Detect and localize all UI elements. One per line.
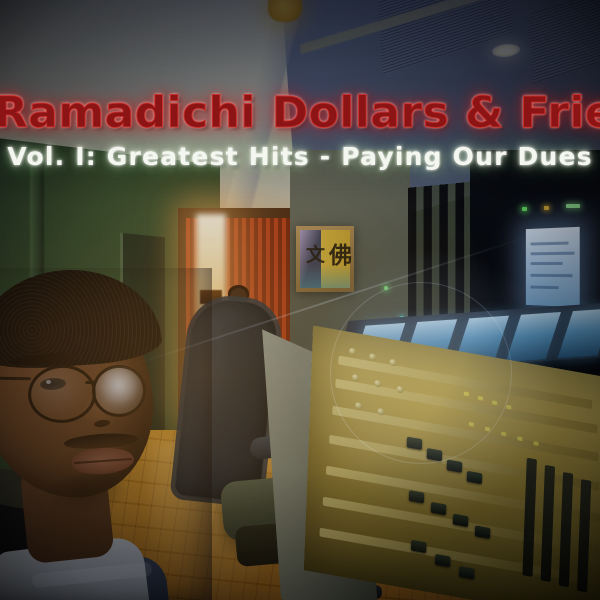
- album-cover: 文 佛: [0, 0, 600, 600]
- lens-flare-ring: [330, 282, 512, 464]
